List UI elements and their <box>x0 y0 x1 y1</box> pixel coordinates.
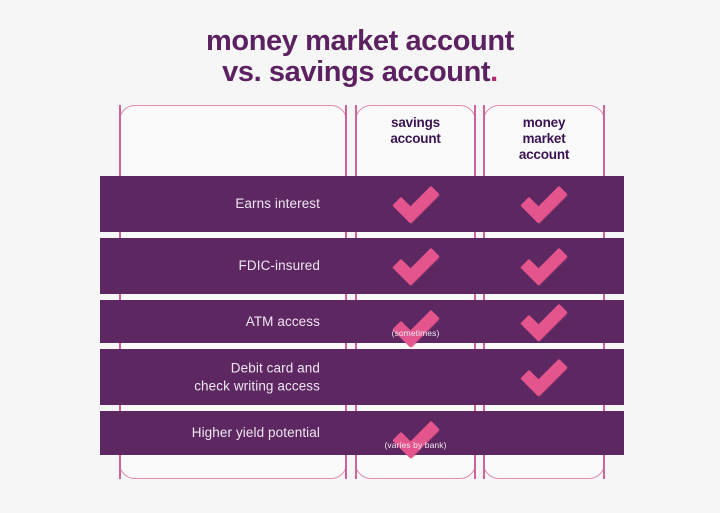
column-header-savings-line-2: account <box>356 131 475 147</box>
cell-money-market-2 <box>483 300 605 343</box>
table-row-4: Higher yield potential (varies by bank) <box>100 411 624 455</box>
cell-savings-1 <box>355 238 476 294</box>
table-row-2: ATM access (sometimes) <box>100 300 624 343</box>
comparison-table: savings account money market account Ear… <box>0 0 720 513</box>
column-header-money-market-line-2: market <box>484 131 604 147</box>
cell-savings-4: (varies by bank) <box>355 411 476 455</box>
row-label-0: Earns interest <box>100 195 336 213</box>
check-icon <box>518 357 570 397</box>
column-header-money-market: money market account <box>484 115 604 162</box>
row-label-1: FDIC-insured <box>100 257 336 275</box>
cell-savings-2: (sometimes) <box>355 300 476 343</box>
row-label-line: check writing access <box>100 377 320 395</box>
row-label-line: FDIC-insured <box>100 257 320 275</box>
column-header-savings: savings account <box>356 115 475 147</box>
check-icon <box>390 246 442 286</box>
check-icon <box>390 184 442 224</box>
cell-note: (sometimes) <box>355 328 476 338</box>
table-row-3: Debit card andcheck writing access <box>100 349 624 405</box>
column-header-savings-line-1: savings <box>356 115 475 131</box>
check-icon <box>390 419 442 459</box>
row-label-line: Earns interest <box>100 195 320 213</box>
row-label-2: ATM access <box>100 313 336 331</box>
column-header-money-market-line-1: money <box>484 115 604 131</box>
row-label-line: Higher yield potential <box>100 424 320 442</box>
cell-note: (varies by bank) <box>355 440 476 450</box>
cell-money-market-0 <box>483 176 605 232</box>
check-icon <box>518 184 570 224</box>
cell-money-market-4 <box>483 411 605 455</box>
row-label-3: Debit card andcheck writing access <box>100 359 336 394</box>
cell-money-market-1 <box>483 238 605 294</box>
row-label-4: Higher yield potential <box>100 424 336 442</box>
column-header-money-market-line-3: account <box>484 147 604 163</box>
check-icon <box>518 246 570 286</box>
cell-savings-3 <box>355 349 476 405</box>
table-row-0: Earns interest <box>100 176 624 232</box>
cell-money-market-3 <box>483 349 605 405</box>
cell-savings-0 <box>355 176 476 232</box>
table-row-1: FDIC-insured <box>100 238 624 294</box>
row-label-line: Debit card and <box>100 359 320 377</box>
check-icon <box>518 302 570 342</box>
row-label-line: ATM access <box>100 313 320 331</box>
